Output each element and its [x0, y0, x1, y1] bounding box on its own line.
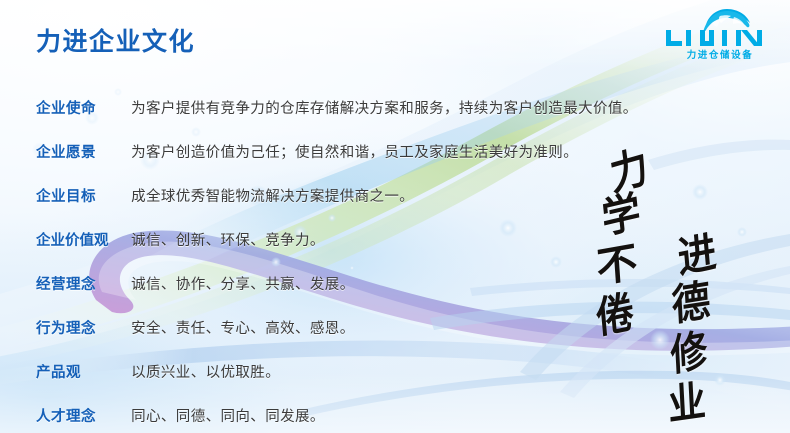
list-item: 行为理念 安全、责任、专心、高效、感恩。 [36, 306, 686, 350]
row-label: 产品观 [36, 351, 126, 395]
globe-icon [704, 9, 750, 31]
row-value: 成全球优秀智能物流解决方案提供商之一。 [131, 175, 414, 219]
row-value: 安全、责任、专心、高效、感恩。 [131, 307, 355, 351]
row-label: 行为理念 [36, 307, 126, 351]
row-label: 企业价值观 [36, 219, 126, 263]
culture-rows-list: 企业使命 为客户提供有竞争力的仓库存储解决方案和服务，持续为客户创造最大价值。 … [36, 86, 686, 433]
company-logo[interactable]: 力进仓储设备 [664, 8, 776, 62]
row-label: 人才理念 [36, 395, 126, 433]
page-title: 力进企业文化 [36, 22, 195, 58]
row-value: 诚信、创新、环保、竞争力。 [131, 219, 325, 263]
list-item: 经营理念 诚信、协作、分享、共赢、发展。 [36, 262, 686, 306]
logo-wordmark [666, 30, 762, 46]
list-item: 企业使命 为客户提供有竞争力的仓库存储解决方案和服务，持续为客户创造最大价值。 [36, 86, 686, 130]
row-value: 同心、同德、同向、同发展。 [131, 395, 325, 433]
logo-subtitle: 力进仓储设备 [687, 49, 754, 61]
list-item: 企业目标 成全球优秀智能物流解决方案提供商之一。 [36, 174, 686, 218]
row-label: 企业目标 [36, 175, 126, 219]
list-item: 产品观 以质兴业、以优取胜。 [36, 350, 686, 394]
row-label: 企业愿景 [36, 131, 126, 175]
row-value: 诚信、协作、分享、共赢、发展。 [131, 263, 355, 307]
row-value: 以质兴业、以优取胜。 [131, 351, 280, 395]
list-item: 企业价值观 诚信、创新、环保、竞争力。 [36, 218, 686, 262]
corporate-culture-banner: 力进企业文化 [0, 0, 790, 433]
row-label: 企业使命 [36, 87, 126, 131]
list-item: 人才理念 同心、同德、同向、同发展。 [36, 394, 686, 433]
row-value: 为客户提供有竞争力的仓库存储解决方案和服务，持续为客户创造最大价值。 [131, 87, 638, 131]
list-item: 企业愿景 为客户创造价值为己任；使自然和谐，员工及家庭生活美好为准则。 [36, 130, 686, 174]
row-value: 为客户创造价值为己任；使自然和谐，员工及家庭生活美好为准则。 [131, 131, 578, 175]
row-label: 经营理念 [36, 263, 126, 307]
